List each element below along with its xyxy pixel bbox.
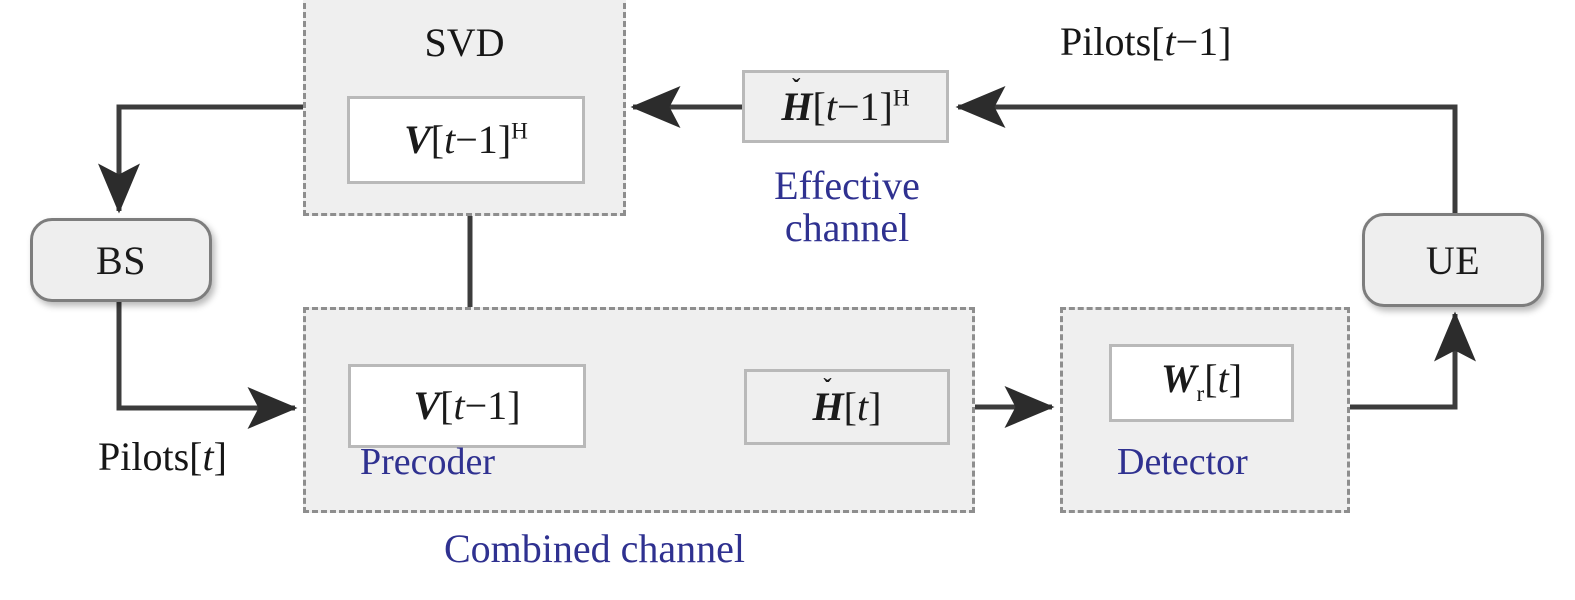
label-pilots-current-text: Pilots: [98, 434, 189, 479]
label-pilots-previous: Pilots[t−1]: [1060, 21, 1232, 63]
label-combined-channel: Combined channel: [444, 528, 745, 570]
connector-svd-to-bs: [119, 107, 303, 211]
connector-detector-to-ue: [1350, 314, 1455, 407]
label-precoder: Precoder: [360, 443, 495, 483]
label-detector: Detector: [1117, 443, 1248, 483]
connector-ue-to-heff: [958, 107, 1455, 213]
box-effective-channel-prev-formula: ˇH[t−1]H: [781, 87, 909, 127]
label-effective-channel-line2: channel: [748, 207, 946, 249]
box-precoder-matrix[interactable]: V[t−1]: [348, 364, 586, 448]
box-effective-channel-cur[interactable]: ˇH[t]: [744, 369, 950, 445]
box-detector-matrix[interactable]: Wr[t]: [1109, 344, 1294, 422]
connector-bs-to-precoder: [119, 302, 295, 408]
box-effective-channel-cur-formula: ˇH[t]: [813, 387, 882, 427]
node-base-station-label: BS: [96, 237, 146, 284]
box-precoder-matrix-formula: V[t−1]: [413, 386, 520, 426]
node-user-equipment[interactable]: UE: [1362, 213, 1544, 307]
group-svd-title: SVD: [303, 22, 626, 64]
box-detector-matrix-formula: Wr[t]: [1161, 359, 1242, 406]
box-v-hermitian[interactable]: V[t−1]H: [347, 96, 585, 184]
label-effective-channel: Effective channel: [748, 165, 946, 249]
box-effective-channel-prev[interactable]: ˇH[t−1]H: [742, 70, 949, 143]
node-user-equipment-label: UE: [1426, 237, 1480, 284]
block-diagram-canvas: SVD V[t−1]H ˇH[t−1]H V[t−1] ˇH[t] Wr[t] …: [0, 0, 1575, 600]
label-pilots-current: Pilots[t]: [98, 436, 227, 478]
node-base-station[interactable]: BS: [30, 218, 212, 302]
label-pilots-previous-text: Pilots: [1060, 19, 1151, 64]
box-v-hermitian-formula: V[t−1]H: [404, 120, 528, 160]
label-effective-channel-line1: Effective: [748, 165, 946, 207]
